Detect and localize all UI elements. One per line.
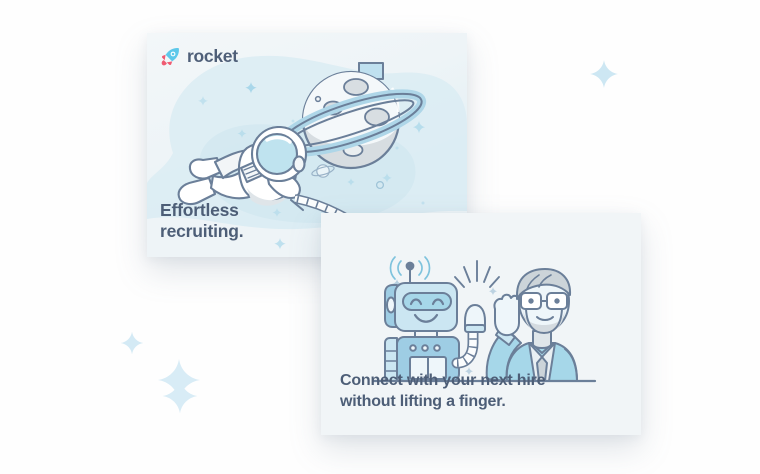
robot-headline-line-2: without lifting a finger. — [340, 391, 545, 413]
sparkle-bottom-left-large-icon — [155, 356, 203, 404]
sparkle-bottom-left-clipped-icon — [160, 376, 200, 416]
logo-wordmark: rocket — [187, 48, 238, 66]
rocket-icon — [159, 46, 181, 68]
rocket-headline-line-2: recruiting. — [160, 221, 243, 243]
sparkle-top-right-icon — [588, 58, 620, 90]
robot-card[interactable]: Connect with your next hire without lift… — [321, 213, 641, 435]
planet-with-ring-illustration — [271, 47, 431, 187]
rocket-logo[interactable]: rocket — [159, 46, 238, 68]
robot-card-headline: Connect with your next hire without lift… — [340, 370, 545, 413]
sparkle-bottom-left-small-icon — [119, 330, 145, 356]
robot-headline-line-1: Connect with your next hire — [340, 370, 545, 392]
robot-highfive-illustration — [369, 251, 599, 383]
rocket-card-headline: Effortless recruiting. — [160, 200, 243, 243]
page-canvas: rocket Effortless recruiting. — [0, 0, 760, 474]
rocket-headline-line-1: Effortless — [160, 200, 243, 222]
